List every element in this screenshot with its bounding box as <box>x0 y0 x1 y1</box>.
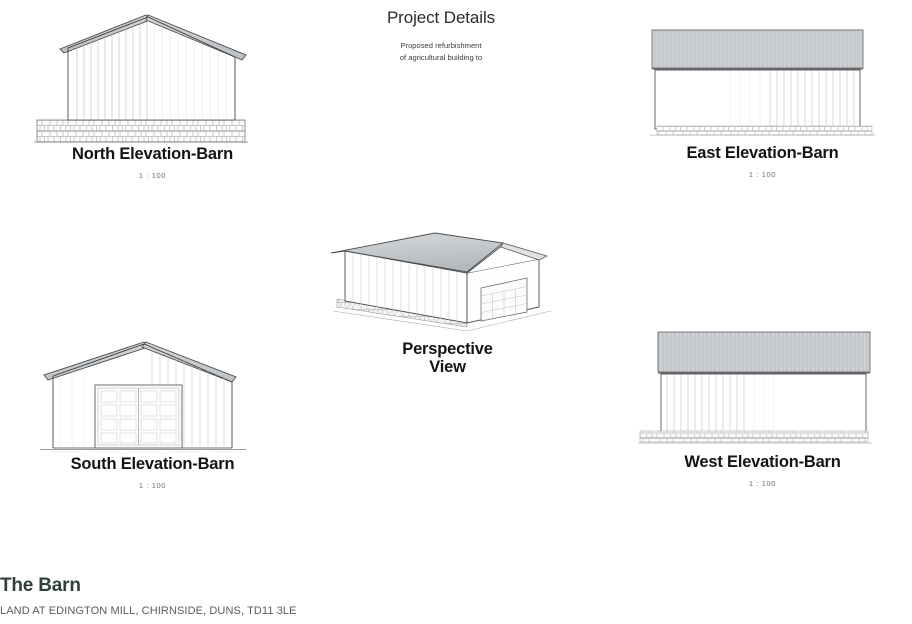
east-elevation-title: East Elevation-Barn <box>630 144 895 162</box>
north-elevation-title: North Elevation-Barn <box>20 145 285 163</box>
project-address: LAND AT EDINGTON MILL, CHIRNSIDE, DUNS, … <box>0 605 460 617</box>
project-details-heading: Project Details <box>336 8 546 28</box>
east-elevation-drawing <box>630 14 895 144</box>
west-elevation-drawing <box>630 318 895 453</box>
east-stone-plinth <box>657 126 872 135</box>
drawing-east-elevation: East Elevation-Barn 1 : 100 <box>630 14 895 179</box>
north-stone-plinth <box>37 120 245 142</box>
west-roof-band <box>658 332 870 372</box>
west-elevation-scale: 1 : 100 <box>630 479 895 488</box>
west-elevation-title: West Elevation-Barn <box>630 453 895 471</box>
title-block: The Barn LAND AT EDINGTON MILL, CHIRNSID… <box>0 575 460 617</box>
south-elevation-title: South Elevation-Barn <box>20 455 285 473</box>
drawing-west-elevation: West Elevation-Barn 1 : 100 <box>630 318 895 488</box>
project-details-block: Project Details Proposed refurbishment o… <box>336 8 546 64</box>
south-elevation-drawing <box>20 330 285 455</box>
east-elevation-scale: 1 : 100 <box>630 170 895 179</box>
west-wall <box>661 374 866 435</box>
south-elevation-scale: 1 : 100 <box>20 481 285 490</box>
drawing-south-elevation: South Elevation-Barn 1 : 100 <box>20 330 285 490</box>
perspective-view-drawing <box>315 215 580 340</box>
project-name: The Barn <box>0 575 460 597</box>
north-elevation-drawing <box>20 10 285 145</box>
west-stone-plinth <box>640 431 868 442</box>
drawing-north-elevation: North Elevation-Barn 1 : 100 <box>20 10 285 180</box>
project-details-description: Proposed refurbishment of agricultural b… <box>336 40 546 64</box>
drawing-perspective-view: Perspective View <box>315 215 580 385</box>
east-wall <box>655 70 860 129</box>
drawing-sheet: Project Details Proposed refurbishment o… <box>0 0 912 624</box>
perspective-view-title: Perspective View <box>315 340 580 377</box>
south-garage-door <box>95 385 182 448</box>
east-roof-band <box>652 30 863 68</box>
north-elevation-scale: 1 : 100 <box>20 171 285 180</box>
